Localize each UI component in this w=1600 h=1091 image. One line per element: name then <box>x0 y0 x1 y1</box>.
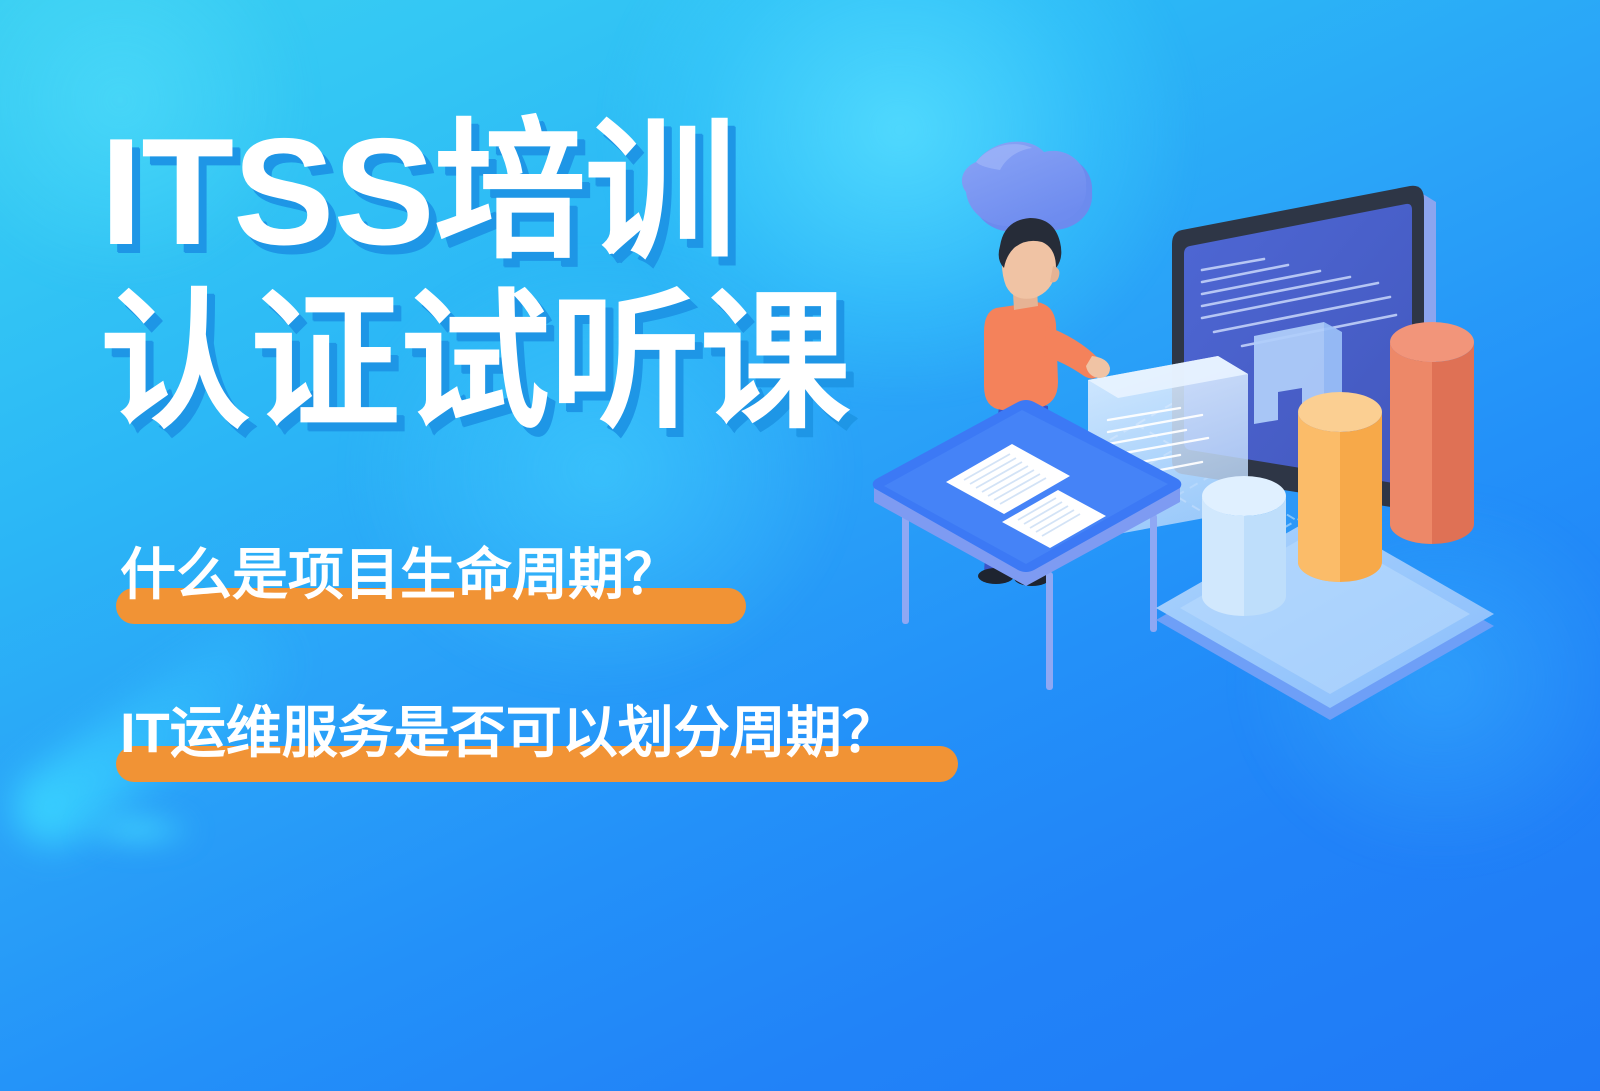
page-title: ITSS培训 认证试听课 <box>100 116 1000 438</box>
bar-chart-cylinder-1 <box>1202 476 1286 616</box>
light-streak-head-decoration <box>58 806 218 854</box>
subtitle-group: 什么是项目生命周期？ IT运维服务是否可以划分周期？ <box>116 536 898 790</box>
poster-canvas: ITSS培训 认证试听课 什么是项目生命周期？ IT运维服务是否可以划分周期？ <box>0 0 1600 1091</box>
bar-chart-cylinder-2 <box>1298 392 1382 582</box>
subtitle-row-2: IT运维服务是否可以划分周期？ <box>116 694 898 790</box>
subtitle-text-2: IT运维服务是否可以划分周期？ <box>116 694 898 764</box>
title-line-2: 认证试听课 <box>100 286 1000 438</box>
subtitle-row-1: 什么是项目生命周期？ <box>116 536 898 632</box>
title-line-1: ITSS培训 <box>100 116 1000 268</box>
bar-chart-cylinder-3 <box>1390 322 1474 544</box>
subtitle-text-1: 什么是项目生命周期？ <box>116 536 898 606</box>
